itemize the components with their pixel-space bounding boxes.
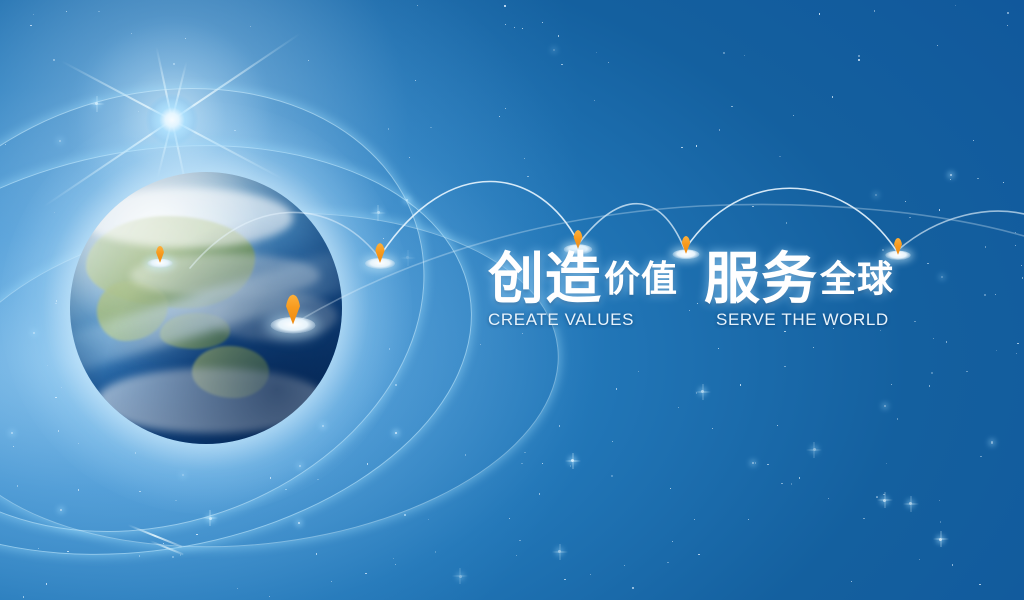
headline-left-accent: 价值 bbox=[604, 250, 678, 308]
route-arc bbox=[686, 188, 896, 250]
subheadline-left: CREATE VALUES bbox=[488, 310, 634, 330]
headline-left-main: 创造 bbox=[488, 250, 602, 308]
route-arc bbox=[380, 181, 578, 256]
route-arc bbox=[580, 204, 684, 248]
headline-block: 创造 价值 服务 全球 CREATE VALUES SERVE THE WORL… bbox=[488, 250, 918, 330]
subheadline-line: CREATE VALUES SERVE THE WORLD bbox=[488, 310, 918, 330]
banner-canvas: 创造 价值 服务 全球 CREATE VALUES SERVE THE WORL… bbox=[0, 0, 1024, 600]
subheadline-right: SERVE THE WORLD bbox=[716, 310, 889, 330]
headline-right-accent: 全球 bbox=[820, 250, 894, 308]
headline-group-left: 创造 价值 bbox=[488, 250, 678, 308]
headline-group-right: 服务 全球 bbox=[704, 250, 894, 308]
headline-right-main: 服务 bbox=[704, 250, 818, 308]
route-arc bbox=[190, 212, 378, 268]
headline-line: 创造 价值 服务 全球 bbox=[488, 250, 918, 308]
